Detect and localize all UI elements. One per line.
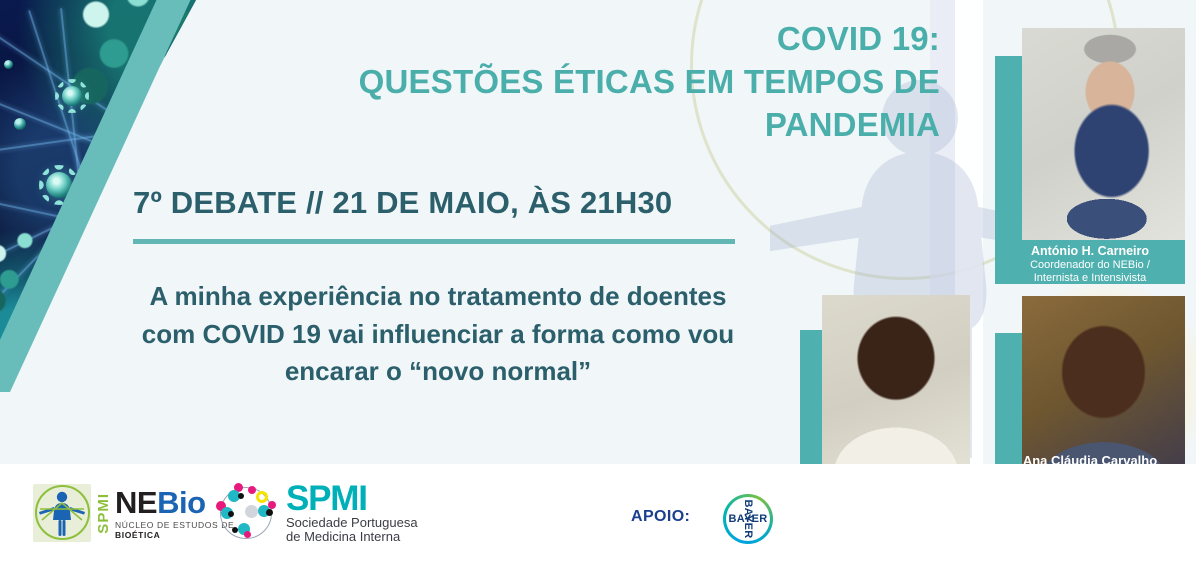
title-line-2: QUESTÕES ÉTICAS EM TEMPOS DE <box>320 61 940 104</box>
avatar-moderator <box>1022 28 1185 240</box>
speaker-card-moderator: António H. Carneiro Coordenador do NEBio… <box>995 56 1185 284</box>
logo-bayer: BAYER BAYER <box>723 494 773 544</box>
vitruvian-man-icon <box>33 484 91 542</box>
bayer-cross-inner: BAYER BAYER <box>726 497 770 541</box>
nebio-spmi-vertical-text: SPMI <box>96 493 111 534</box>
spmi-subtitle-line-2: de Medicina Interna <box>286 530 418 545</box>
speaker-name: António H. Carneiro <box>999 244 1181 258</box>
title-line-3: PANDEMIA <box>320 104 940 147</box>
speaker-role-line-2: Internista e Intensivista <box>999 272 1181 285</box>
nebio-word-ne: NE <box>115 485 157 520</box>
spmi-network-icon <box>214 483 278 545</box>
spmi-subtitle-line-1: Sociedade Portuguesa <box>286 516 418 531</box>
debate-subject: A minha experiência no tratamento de doe… <box>133 278 743 391</box>
speaker-role-line-1: Coordenador do NEBio / <box>999 259 1181 272</box>
speaker-caption: António H. Carneiro Coordenador do NEBio… <box>995 244 1185 285</box>
spmi-acronym: SPMI <box>286 483 418 515</box>
sponsor-label: APOIO: <box>631 508 690 526</box>
human-figure-icon <box>37 490 87 538</box>
logo-spmi: SPMI Sociedade Portuguesa de Medicina In… <box>214 483 418 545</box>
spmi-wordmark: SPMI Sociedade Portuguesa de Medicina In… <box>286 483 418 544</box>
poster-canvas: COVID 19: QUESTÕES ÉTICAS EM TEMPOS DE P… <box>0 0 1196 561</box>
logo-nebio: SPMI NEBio NÚCLEO DE ESTUDOS DE BIOÉTICA <box>33 484 234 542</box>
avatar-raquel <box>822 295 970 481</box>
nebio-word-bio: Bio <box>157 485 205 520</box>
horizontal-divider <box>133 239 735 244</box>
debate-date-line: 7º DEBATE // 21 DE MAIO, ÀS 21H30 <box>133 185 672 221</box>
title-line-1: COVID 19: <box>320 18 940 61</box>
bayer-vertical-text: BAYER <box>742 500 754 539</box>
poster-title: COVID 19: QUESTÕES ÉTICAS EM TEMPOS DE P… <box>320 18 940 147</box>
